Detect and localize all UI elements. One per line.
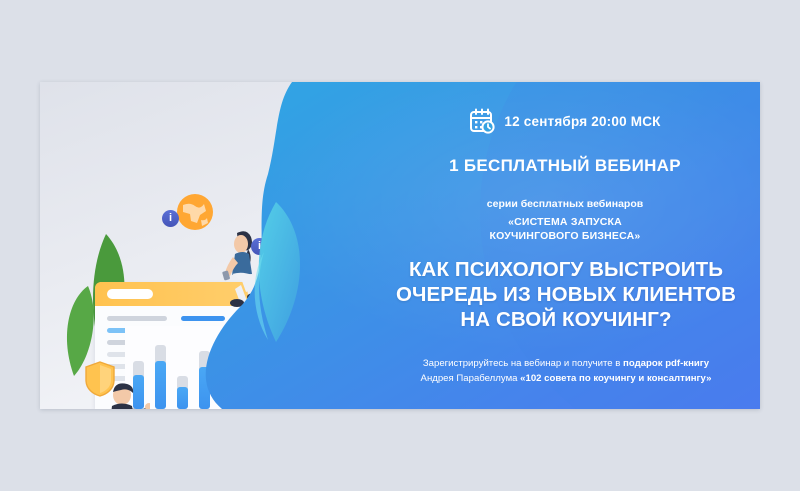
footer-offer: Зарегистрируйтесь на вебинар и получите … bbox=[382, 357, 750, 387]
series-name-line2: КОУЧИНГОВОГО БИЗНЕСА» bbox=[490, 230, 641, 242]
headline-line3: НА СВОЙ КОУЧИНГ? bbox=[460, 308, 671, 331]
footer-line2-a: Андрея Парабеллума bbox=[421, 373, 521, 384]
calendar-clock-icon bbox=[469, 108, 495, 134]
footer-line1-a: Зарегистрируйтесь на вебинар и получите … bbox=[423, 358, 623, 369]
series-name-line1: «СИСТЕМА ЗАПУСКА bbox=[508, 216, 622, 228]
footer-line2-b: «102 совета по коучингу и консалтингу» bbox=[520, 373, 711, 384]
webinar-banner: i i bbox=[40, 82, 760, 409]
headline-line1: КАК ПСИХОЛОГУ ВЫСТРОИТЬ bbox=[409, 258, 723, 281]
date-row: 12 сентября 20:00 МСК bbox=[370, 108, 760, 134]
screenshot-root: i i bbox=[0, 0, 800, 491]
footer-line1-b: подарок pdf-книгу bbox=[623, 358, 709, 369]
series-name: «СИСТЕМА ЗАПУСКА КОУЧИНГОВОГО БИЗНЕСА» bbox=[370, 215, 760, 243]
webinar-date: 12 сентября 20:00 МСК bbox=[504, 114, 660, 129]
headline: КАК ПСИХОЛОГУ ВЫСТРОИТЬ ОЧЕРЕДЬ ИЗ НОВЫХ… bbox=[372, 257, 760, 332]
webinar-title: 1 БЕСПЛАТНЫЙ ВЕБИНАР bbox=[370, 156, 760, 176]
text-column: 12 сентября 20:00 МСК 1 БЕСПЛАТНЫЙ ВЕБИН… bbox=[370, 82, 760, 409]
headline-line2: ОЧЕРЕДЬ ИЗ НОВЫХ КЛИЕНТОВ bbox=[396, 283, 736, 306]
series-prefix: серии бесплатных вебинаров bbox=[370, 197, 760, 211]
